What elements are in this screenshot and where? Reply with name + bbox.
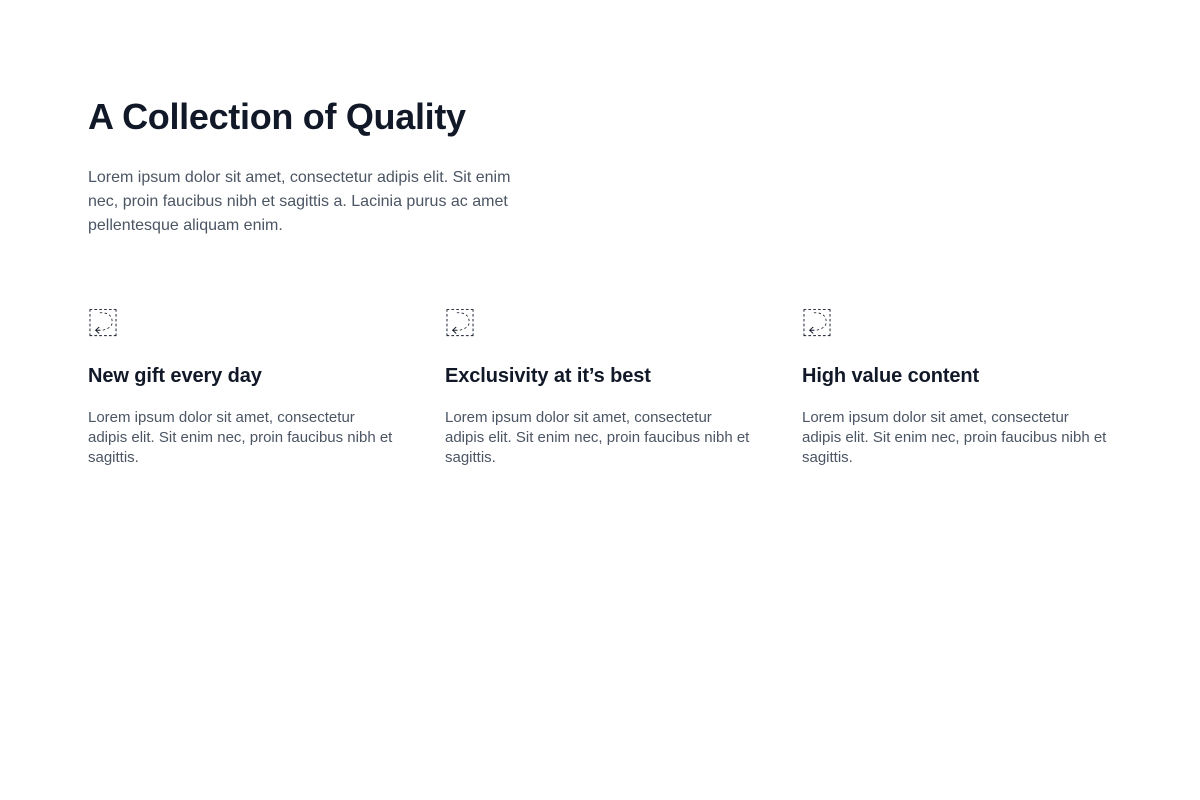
intro-paragraph: Lorem ipsum dolor sit amet, consectetur … (88, 138, 538, 238)
feature-card-new-gift-every-day: ⿿ New gift every day Lorem ipsum dolor s… (88, 306, 398, 468)
missing-glyph-box-icon: ⿿ (802, 306, 1112, 344)
content-container: A Collection of Quality Lorem ipsum dolo… (88, 0, 1112, 468)
feature-title: High value content (802, 344, 1112, 388)
page-root: A Collection of Quality Lorem ipsum dolo… (0, 0, 1200, 800)
feature-description: Lorem ipsum dolor sit amet, consectetur … (445, 388, 755, 468)
missing-glyph-box-icon: ⿿ (445, 306, 755, 344)
feature-title: Exclusivity at it’s best (445, 344, 755, 388)
missing-glyph-box-icon: ⿿ (88, 306, 398, 344)
feature-card-high-value-content: ⿿ High value content Lorem ipsum dolor s… (802, 306, 1112, 468)
feature-title: New gift every day (88, 344, 398, 388)
feature-description: Lorem ipsum dolor sit amet, consectetur … (88, 388, 398, 468)
page-title: A Collection of Quality (88, 96, 1112, 138)
feature-description: Lorem ipsum dolor sit amet, consectetur … (802, 388, 1112, 468)
intro-section: A Collection of Quality Lorem ipsum dolo… (88, 0, 1112, 238)
feature-card-exclusivity-at-its-best: ⿿ Exclusivity at it’s best Lorem ipsum d… (445, 306, 755, 468)
features-section: ⿿ New gift every day Lorem ipsum dolor s… (88, 238, 1112, 468)
